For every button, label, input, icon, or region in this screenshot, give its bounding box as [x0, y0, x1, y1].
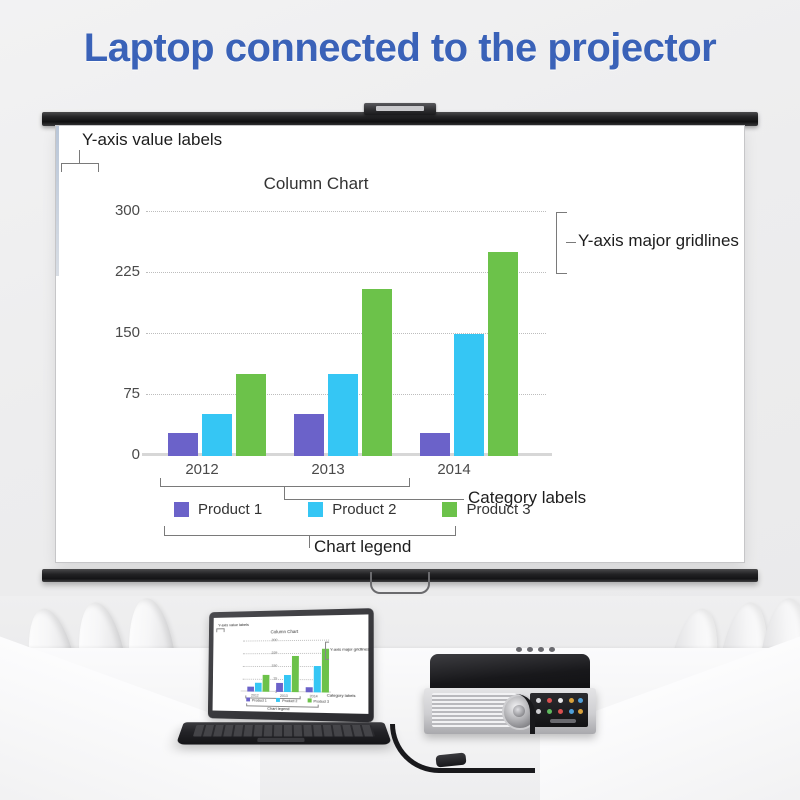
laptop-chart: Y-axis value labels Column Chart 300 225… [213, 614, 369, 713]
bar-2014-product2 [454, 334, 484, 457]
laptop-base [176, 722, 392, 744]
mini-bar-2012-product1 [247, 687, 254, 692]
projection-screen: Column Chart 300 225 150 75 0 [42, 112, 758, 590]
legend-item-product2: Product 2 [308, 501, 396, 518]
annotation-bracket-gridlines [556, 212, 567, 274]
mini-legend-item-product2: Product 2 [276, 698, 297, 703]
projector-knob-1[interactable] [516, 647, 522, 652]
mini-legend-item-product1: Product 1 [246, 697, 266, 702]
mini-gridline-300 [243, 640, 329, 642]
port-hdmi [536, 709, 541, 714]
annotation-stem-gridlines [566, 242, 576, 243]
mini-bar-2013-product1 [276, 683, 283, 692]
chart-title: Column Chart [56, 174, 576, 194]
annotation-stem-chart-legend [309, 535, 310, 548]
port-component-green [547, 709, 552, 714]
screen-pull-handle[interactable] [370, 572, 430, 594]
mini-chart-title: Column Chart [241, 628, 329, 634]
annotation-category-labels: Category labels [468, 488, 586, 508]
annotation-stem-y-value-labels [79, 150, 80, 164]
chart: Column Chart 300 225 150 75 0 [56, 126, 744, 562]
projector-knob-3[interactable] [538, 647, 544, 652]
page-title: Laptop connected to the projector [0, 26, 800, 71]
mini-annotation-category-labels: Category labels [327, 693, 356, 699]
projector-control-knobs[interactable] [516, 647, 562, 653]
port-rca-red [547, 698, 552, 703]
bar-2012-product3 [236, 374, 266, 456]
bar-2012-product2 [202, 414, 232, 456]
mini-bar-2014-product2 [314, 666, 321, 692]
gridline-300 [146, 211, 546, 212]
mini-bracket-y-value-labels [216, 628, 224, 632]
port-rca-blue [578, 698, 583, 703]
bar-2014-product3 [488, 252, 518, 456]
mini-bar-2012-product3 [263, 675, 270, 692]
mini-annotation-gridlines: Y-axis major gridlines [330, 646, 368, 651]
category-label-2014: 2014 [414, 461, 494, 478]
mini-gridline-225 [243, 653, 329, 654]
bar-2013-product3 [362, 289, 392, 456]
mini-legend-swatch-product1 [246, 697, 250, 701]
port-component-blue [569, 709, 574, 714]
bar-2013-product1 [294, 414, 324, 456]
screen-top-bar [42, 112, 758, 126]
legend-swatch-product2 [308, 502, 323, 517]
mini-bracket-gridlines [325, 642, 329, 660]
port-usb [536, 698, 541, 703]
annotation-line-category-labels [284, 499, 464, 500]
mini-legend-item-product3: Product 3 [307, 698, 329, 703]
port-rca-yellow [569, 698, 574, 703]
gridline-225 [146, 272, 546, 273]
y-tick-0: 0 [98, 446, 140, 463]
mini-annotation-y-value-labels: Y-axis value labels [218, 622, 249, 627]
mini-bar-2014-product1 [306, 687, 313, 692]
bar-2014-product1 [420, 433, 450, 456]
laptop-trackpad[interactable] [257, 738, 304, 742]
legend-item-product1: Product 1 [174, 501, 262, 518]
projector-knob-4[interactable] [549, 647, 555, 652]
annotation-chart-legend: Chart legend [314, 537, 411, 557]
mini-annotation-chart-legend: Chart legend [267, 706, 289, 711]
y-tick-300: 300 [98, 202, 140, 219]
legend-swatch-product1 [174, 502, 189, 517]
annotation-bracket-chart-legend [164, 526, 456, 536]
laptop-screen: Y-axis value labels Column Chart 300 225… [213, 614, 369, 713]
legend-label-product2: Product 2 [332, 501, 396, 518]
plot-area: 2012 2013 2014 [146, 211, 546, 456]
category-label-2013: 2013 [288, 461, 368, 478]
projector-knob-2[interactable] [527, 647, 533, 652]
bar-2013-product2 [328, 374, 358, 456]
mini-legend-swatch-product3 [307, 698, 311, 702]
mini-bar-2013-product2 [284, 675, 291, 692]
laptop-lid: Y-axis value labels Column Chart 300 225… [208, 608, 374, 722]
screen-bottom-bar [42, 569, 758, 582]
projector-port-panel [530, 693, 588, 727]
slide-canvas: Laptop connected to the projector Column… [0, 0, 800, 800]
mini-legend-swatch-product2 [276, 698, 280, 702]
port-audio-out [578, 709, 583, 714]
annotation-y-axis-value-labels: Y-axis value labels [82, 130, 222, 150]
legend-label-product1: Product 1 [198, 501, 262, 518]
mini-bar-2012-product2 [255, 683, 262, 692]
mini-bar-2013-product3 [292, 656, 299, 692]
annotation-bracket-y-value-labels [61, 163, 99, 172]
mini-legend-label-product3: Product 3 [313, 699, 329, 703]
screen-surface: Column Chart 300 225 150 75 0 [56, 126, 744, 562]
annotation-bracket-category-labels [160, 478, 410, 487]
category-label-2012: 2012 [162, 461, 242, 478]
port-rca-white [558, 698, 563, 703]
port-component-red [558, 709, 563, 714]
gridline-150 [146, 333, 546, 334]
port-vga [550, 719, 576, 723]
y-tick-225: 225 [98, 263, 140, 280]
annotation-y-axis-major-gridlines: Y-axis major gridlines [578, 231, 739, 251]
screen-mount-bracket [364, 103, 436, 115]
y-tick-150: 150 [98, 324, 140, 341]
mini-legend-label-product2: Product 2 [282, 699, 297, 703]
laptop-keyboard[interactable] [193, 725, 375, 737]
legend-swatch-product3 [442, 502, 457, 517]
mini-plot-area: 2012 2013 2014 [243, 640, 330, 693]
laptop: Y-axis value labels Column Chart 300 225… [180, 610, 380, 770]
mini-legend-label-product1: Product 1 [252, 699, 267, 703]
annotation-stem-category-labels [284, 486, 285, 500]
bar-2012-product1 [168, 433, 198, 456]
y-tick-75: 75 [98, 385, 140, 402]
conference-room-scene: Y-axis value labels Column Chart 300 225… [0, 596, 800, 800]
